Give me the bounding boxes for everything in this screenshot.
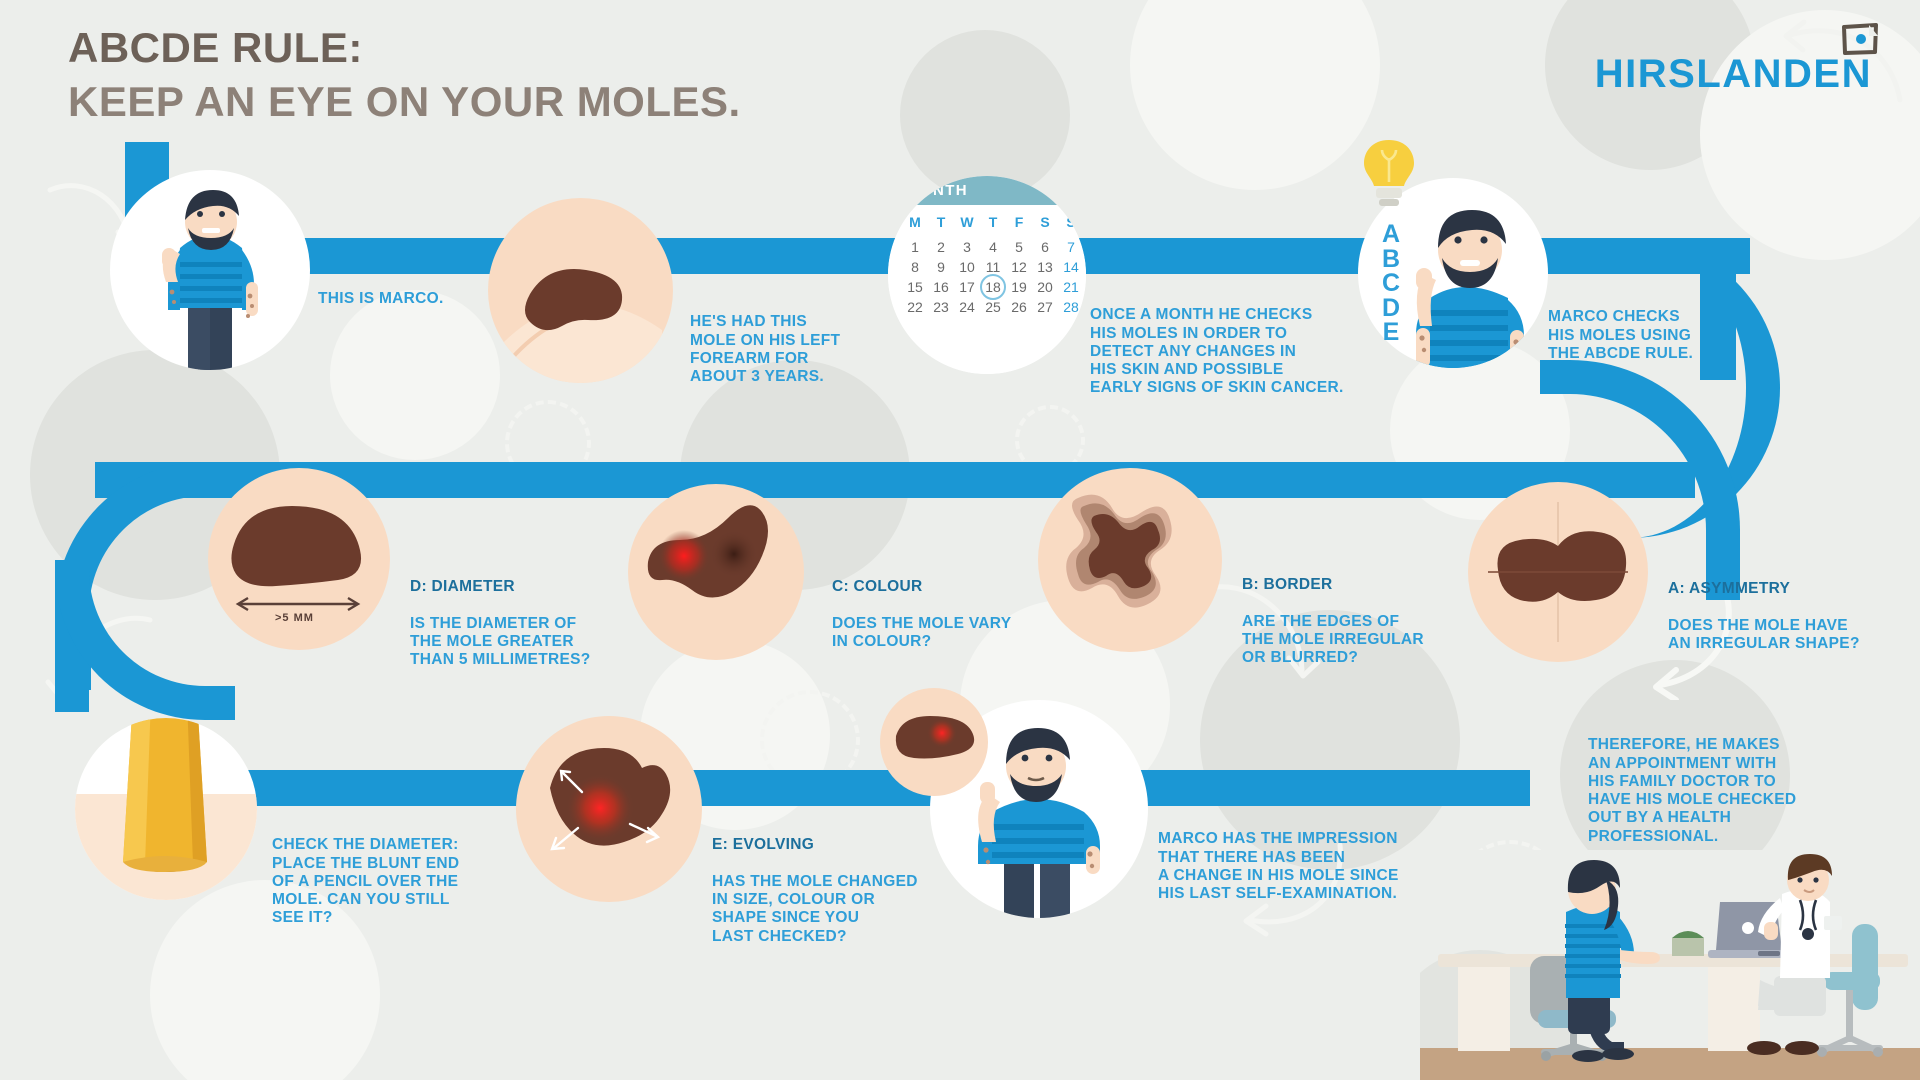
- calendar-day[interactable]: 10: [954, 257, 980, 277]
- framed-dot-icon: [1840, 22, 1880, 56]
- calendar-day[interactable]: 27: [1032, 297, 1058, 317]
- calendar-day[interactable]: 19: [1006, 277, 1032, 297]
- node-small-mole: [880, 688, 988, 796]
- abcde-letter: E: [1378, 320, 1404, 345]
- text-intro-marco: THIS IS MARCO.: [318, 290, 444, 308]
- calendar-day[interactable]: 17: [954, 277, 980, 297]
- calendar-weekday: T: [928, 212, 954, 237]
- calendar-day[interactable]: 12: [1006, 257, 1032, 277]
- node-pencil-test: [75, 718, 257, 900]
- calendar-day[interactable]: 21: [1058, 277, 1084, 297]
- node-forearm-mole: [488, 198, 673, 383]
- step-heading: A: ASYMMETRY: [1668, 580, 1860, 598]
- node-marco-waving: [110, 170, 310, 370]
- infographic-canvas: ABCDE RULE: KEEP AN EYE ON YOUR MOLES. H…: [0, 0, 1920, 1080]
- pencil-on-skin-icon: [75, 718, 257, 900]
- calendar-day[interactable]: 2: [928, 237, 954, 257]
- step-body: ARE THE EDGES OF THE MOLE IRREGULAR OR B…: [1242, 613, 1424, 668]
- page-title-line2: KEEP AN EYE ON YOUR MOLES.: [68, 78, 741, 126]
- node-mole-asymmetry: [1468, 482, 1648, 662]
- calendar-day[interactable]: 23: [928, 297, 954, 317]
- step-heading: E: EVOLVING: [712, 836, 918, 854]
- calendar-day[interactable]: 4: [980, 237, 1006, 257]
- step-body: ONCE A MONTH HE CHECKS HIS MOLES IN ORDE…: [1090, 306, 1344, 397]
- step-body: IS THE DIAMETER OF THE MOLE GREATER THAN…: [410, 615, 591, 670]
- calendar-weekday: M: [902, 212, 928, 237]
- abcde-vertical-letters: A B C D E: [1378, 222, 1404, 345]
- calendar-day[interactable]: 28: [1058, 297, 1084, 317]
- mole-asymmetry-icon: [1468, 482, 1648, 662]
- text-appointment: THEREFORE, HE MAKES AN APPOINTMENT WITH …: [1588, 718, 1796, 864]
- text-mole-history: HE'S HAD THIS MOLE ON HIS LEFT FOREARM F…: [690, 295, 840, 405]
- calendar-day[interactable]: 22: [902, 297, 928, 317]
- text-rule-b: B: BORDER ARE THE EDGES OF THE MOLE IRRE…: [1242, 558, 1424, 686]
- step-body: THEREFORE, HE MAKES AN APPOINTMENT WITH …: [1588, 736, 1796, 846]
- mole-border-icon: [1038, 468, 1222, 652]
- brand-logo-text: HIRSLANDEN: [1595, 52, 1872, 97]
- mole-colour-icon: [628, 484, 804, 660]
- forearm-mole-icon: [488, 198, 673, 383]
- calendar-weekday: S: [1032, 212, 1058, 237]
- doctor-consultation-icon: [1420, 850, 1920, 1080]
- text-rule-d: D: DIAMETER IS THE DIAMETER OF THE MOLE …: [410, 560, 591, 688]
- calendar-weekday: F: [1006, 212, 1032, 237]
- step-body: HE'S HAD THIS MOLE ON HIS LEFT FOREARM F…: [690, 313, 840, 386]
- text-rule-e: E: EVOLVING HAS THE MOLE CHANGED IN SIZE…: [712, 818, 918, 964]
- text-pencil-test: CHECK THE DIAMETER: PLACE THE BLUNT END …: [272, 818, 459, 946]
- node-calendar: MONTH MTWTFSS123456789101112131415161718…: [888, 176, 1086, 374]
- calendar-day[interactable]: 16: [928, 277, 954, 297]
- abcde-letter: D: [1378, 296, 1404, 321]
- calendar-day[interactable]: 9: [928, 257, 954, 277]
- calendar-day[interactable]: 13: [1032, 257, 1058, 277]
- step-body: DOES THE MOLE VARY IN COLOUR?: [832, 615, 1011, 652]
- calendar-grid[interactable]: MTWTFSS123456789101112131415161718192021…: [888, 205, 1086, 317]
- abcde-letter: B: [1378, 247, 1404, 272]
- calendar-day[interactable]: 5: [1006, 237, 1032, 257]
- text-monthly-check: ONCE A MONTH HE CHECKS HIS MOLES IN ORDE…: [1090, 288, 1344, 416]
- calendar-day[interactable]: 15: [902, 277, 928, 297]
- step-heading: C: COLOUR: [832, 578, 1011, 596]
- text-impression: MARCO HAS THE IMPRESSION THAT THERE HAS …: [1158, 812, 1399, 922]
- calendar-weekday: W: [954, 212, 980, 237]
- calendar-day[interactable]: 7: [1058, 237, 1084, 257]
- mole-evolving-icon: [516, 716, 702, 902]
- marco-waving-icon: [110, 170, 310, 370]
- page-title-line1: ABCDE RULE:: [68, 24, 363, 72]
- calendar-weekday: S: [1058, 212, 1084, 237]
- calendar-month-label: MONTH: [888, 176, 1086, 205]
- calendar-day[interactable]: 14: [1058, 257, 1084, 277]
- calendar-day[interactable]: 1: [902, 237, 928, 257]
- step-body: MARCO HAS THE IMPRESSION THAT THERE HAS …: [1158, 830, 1399, 903]
- calendar-day[interactable]: 25: [980, 297, 1006, 317]
- step-body: CHECK THE DIAMETER: PLACE THE BLUNT END …: [272, 836, 459, 927]
- node-mole-colour: [628, 484, 804, 660]
- step-body: HAS THE MOLE CHANGED IN SIZE, COLOUR OR …: [712, 873, 918, 946]
- text-uses-abcde: MARCO CHECKS HIS MOLES USING THE ABCDE R…: [1548, 290, 1693, 381]
- step-body: THIS IS MARCO.: [318, 290, 444, 308]
- diameter-marker-label: >5 MM: [275, 612, 314, 624]
- step-body: DOES THE MOLE HAVE AN IRREGULAR SHAPE?: [1668, 617, 1860, 654]
- abcde-letter: C: [1378, 271, 1404, 296]
- text-rule-c: C: COLOUR DOES THE MOLE VARY IN COLOUR?: [832, 560, 1011, 670]
- text-rule-a: A: ASYMMETRY DOES THE MOLE HAVE AN IRREG…: [1668, 562, 1860, 672]
- calendar-day[interactable]: 24: [954, 297, 980, 317]
- step-heading: D: DIAMETER: [410, 578, 591, 596]
- calendar-day[interactable]: 26: [1006, 297, 1032, 317]
- lightbulb-icon: [1358, 136, 1420, 210]
- calendar-day[interactable]: 8: [902, 257, 928, 277]
- calendar-day[interactable]: 3: [954, 237, 980, 257]
- calendar-day[interactable]: 6: [1032, 237, 1058, 257]
- node-mole-border: [1038, 468, 1222, 652]
- calendar-widget: MONTH MTWTFSS123456789101112131415161718…: [888, 176, 1086, 374]
- calendar-day-selected[interactable]: 18: [980, 277, 1006, 297]
- small-mole-icon: [880, 688, 988, 796]
- step-body: MARCO CHECKS HIS MOLES USING THE ABCDE R…: [1548, 308, 1693, 363]
- node-mole-evolving: [516, 716, 702, 902]
- calendar-day[interactable]: 20: [1032, 277, 1058, 297]
- step-heading: B: BORDER: [1242, 576, 1424, 594]
- calendar-weekday: T: [980, 212, 1006, 237]
- abcde-letter: A: [1378, 222, 1404, 247]
